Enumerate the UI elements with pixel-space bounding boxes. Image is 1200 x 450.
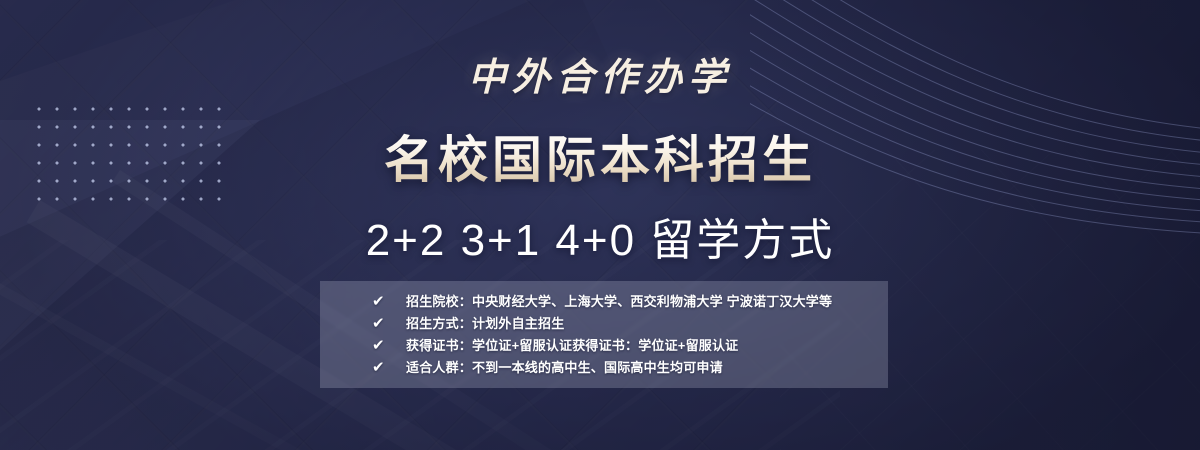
feature-text: 获得证书：学位证+留服认证获得证书：学位证+留服认证 bbox=[406, 339, 738, 352]
promo-banner: 中外合作办学 名校国际本科招生 2+2 3+1 4+0 留学方式 ✔ 招生院校：… bbox=[0, 0, 1200, 450]
check-icon: ✔ bbox=[372, 316, 392, 331]
banner-script-title: 中外合作办学 bbox=[0, 46, 1200, 101]
feature-list: ✔ 招生院校：中央财经大学、上海大学、西交利物浦大学 宁波诺丁汉大学等 ✔ 招生… bbox=[320, 281, 888, 388]
feature-row-admission-method: ✔ 招生方式：计划外自主招生 bbox=[320, 312, 888, 334]
banner-sub-title: 2+2 3+1 4+0 留学方式 bbox=[0, 204, 1200, 268]
check-icon: ✔ bbox=[372, 338, 392, 353]
feature-text: 适合人群：不到一本线的高中生、国际高中生均可申请 bbox=[406, 361, 723, 374]
banner-main-title: 名校国际本科招生 bbox=[0, 120, 1200, 192]
feature-row-target-audience: ✔ 适合人群：不到一本线的高中生、国际高中生均可申请 bbox=[320, 356, 888, 378]
check-icon: ✔ bbox=[372, 360, 392, 375]
feature-row-schools: ✔ 招生院校：中央财经大学、上海大学、西交利物浦大学 宁波诺丁汉大学等 bbox=[320, 290, 888, 312]
feature-text: 招生方式：计划外自主招生 bbox=[406, 317, 564, 330]
feature-row-certificate: ✔ 获得证书：学位证+留服认证获得证书：学位证+留服认证 bbox=[320, 334, 888, 356]
feature-text: 招生院校：中央财经大学、上海大学、西交利物浦大学 宁波诺丁汉大学等 bbox=[406, 295, 832, 308]
check-icon: ✔ bbox=[372, 294, 392, 309]
banner-content: 中外合作办学 名校国际本科招生 2+2 3+1 4+0 留学方式 ✔ 招生院校：… bbox=[0, 0, 1200, 450]
features-panel: ✔ 招生院校：中央财经大学、上海大学、西交利物浦大学 宁波诺丁汉大学等 ✔ 招生… bbox=[320, 281, 888, 388]
